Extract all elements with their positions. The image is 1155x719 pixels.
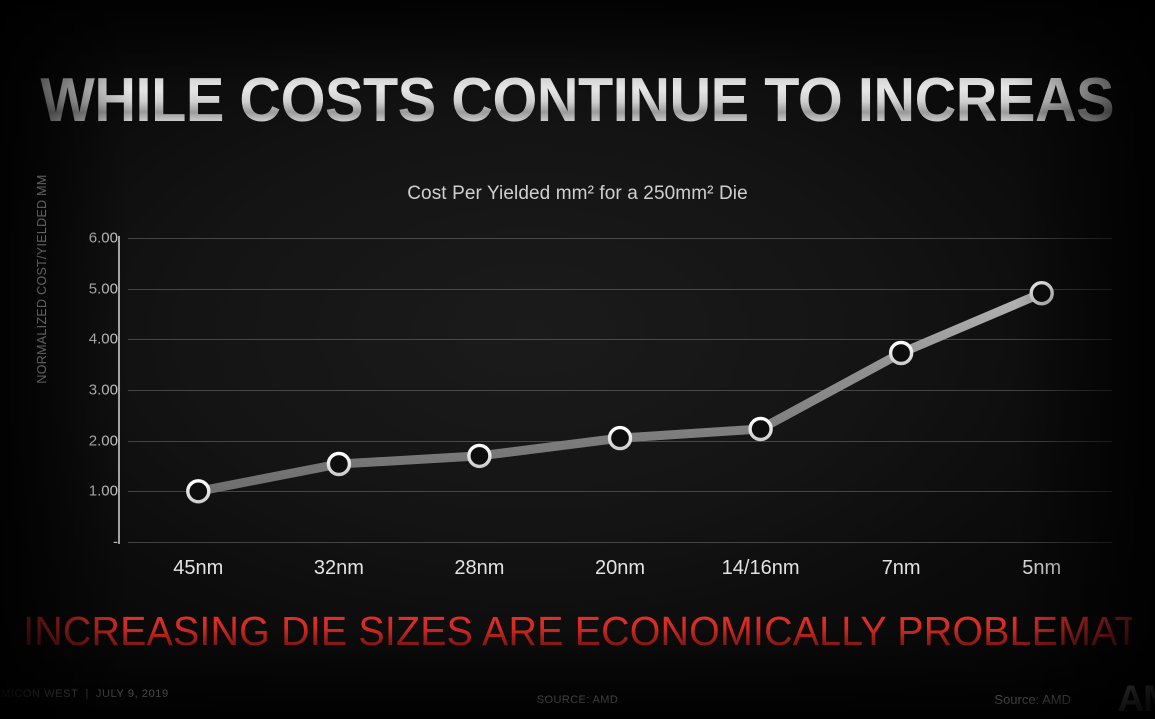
chart-data-point [328,454,349,475]
x-axis-tick-label: 20nm [595,557,645,580]
chart-data-line [198,293,1041,491]
footer-source-right: Source: AMD [994,692,1071,707]
x-axis-tick-label: 7nm [882,557,921,580]
footer-source-center: SOURCE: AMD [0,694,1155,706]
x-axis-tick-label: 45nm [173,557,223,580]
chart-data-point [188,481,209,502]
chart-data-point [891,343,912,364]
x-axis-tick-label: 5nm [1022,557,1061,580]
chart-data-point [1031,283,1052,304]
chart-data-point [750,419,771,440]
tagline: INCREASING DIE SIZES ARE ECONOMICALLY PR… [23,608,1132,655]
x-axis-tick-label: 14/16nm [722,557,800,580]
chart-data-point [610,428,631,449]
slide-canvas: WHILE COSTS CONTINUE TO INCREASE Cost Pe… [0,0,1155,719]
x-axis-tick-label: 28nm [454,557,504,580]
amd-logo: AM [1117,678,1155,719]
x-axis-tick-label: 32nm [314,557,364,580]
chart-data-point [469,445,490,466]
